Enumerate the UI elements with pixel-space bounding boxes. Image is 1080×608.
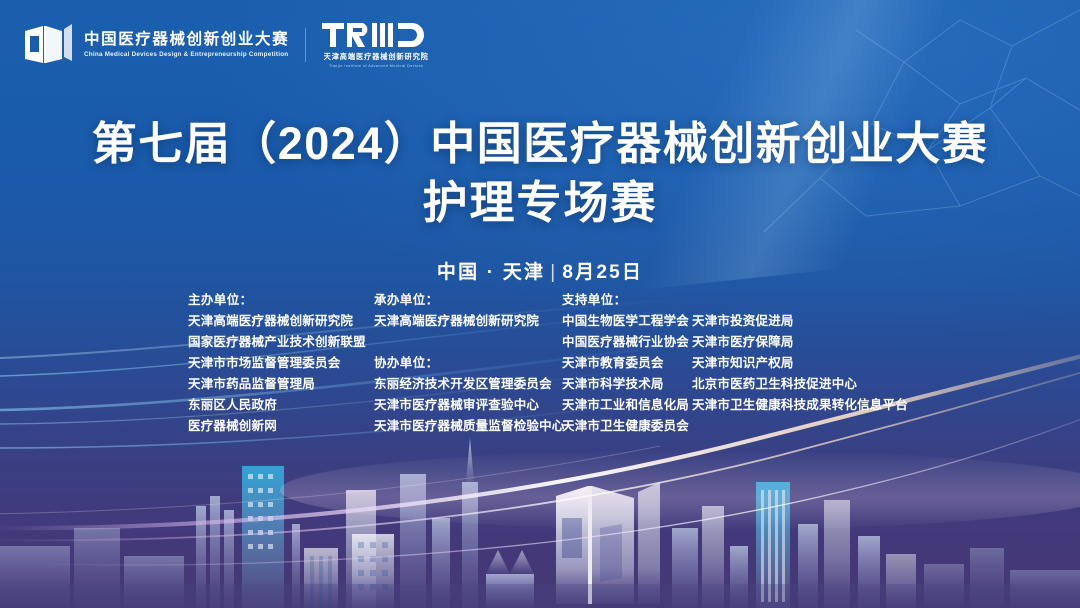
org-item: 天津市卫生健康委员会 <box>562 416 692 437</box>
institute-logo[interactable]: 天津高端医疗器械创新研究院 Tianjin Institute of Advan… <box>322 22 430 68</box>
header-logo-bar: 中国医疗器械创新创业大赛 China Medical Devices Desig… <box>22 22 430 68</box>
title-secondary: 护理专场赛 <box>0 175 1080 232</box>
org-item: 东丽区人民政府 <box>188 395 374 416</box>
institute-logo-en: Tianjin Institute of Advanced Medical De… <box>329 64 423 68</box>
org-heading-organizer: 承办单位： <box>374 290 562 311</box>
trmd-wordmark-icon <box>322 22 430 48</box>
org-item: 天津市科学技术局 <box>562 374 692 395</box>
org-item: 天津市医疗保障局 <box>692 332 902 353</box>
org-item: 医疗器械创新网 <box>188 416 374 437</box>
competition-logo-cn: 中国医疗器械创新创业大赛 <box>84 31 289 48</box>
event-date: 8月25日 <box>562 262 643 283</box>
competition-logo[interactable]: 中国医疗器械创新创业大赛 China Medical Devices Desig… <box>22 23 289 67</box>
event-location: 中国 · 天津 <box>437 262 545 283</box>
org-heading-supporters: 支持单位： <box>562 290 692 311</box>
org-column-spacer <box>692 290 902 311</box>
org-item: 天津市工业和信息化局 <box>562 395 692 416</box>
logo-divider <box>305 28 306 62</box>
org-item: 天津市教育委员会 <box>562 353 692 374</box>
poster-canvas: 中国医疗器械创新创业大赛 China Medical Devices Desig… <box>0 0 1080 608</box>
org-item: 国家医疗器械产业技术创新联盟 <box>188 332 374 353</box>
meta-separator: | <box>550 262 557 283</box>
org-item: 东丽经济技术开发区管理委员会 <box>374 374 562 395</box>
org-item: 天津市医疗器械质量监督检验中心 <box>374 416 562 437</box>
org-heading-host: 主办单位： <box>188 290 374 311</box>
competition-logo-en: China Medical Devices Design & Entrepren… <box>84 51 289 60</box>
org-item: 天津市药品监督管理局 <box>188 374 374 395</box>
title-block: 第七届（2024）中国医疗器械创新创业大赛 护理专场赛 中国 · 天津|8月25… <box>0 116 1080 284</box>
org-item: 天津市医疗器械审评查验中心 <box>374 395 562 416</box>
org-item: 天津市知识产权局 <box>692 353 902 374</box>
org-item: 天津高端医疗器械创新研究院 <box>374 311 562 332</box>
title-primary: 第七届（2024）中国医疗器械创新创业大赛 <box>0 116 1080 173</box>
org-item: 中国生物医学工程学会 <box>562 311 692 332</box>
org-item: 中国医疗器械行业协会 <box>562 332 692 353</box>
org-column-host: 主办单位： 天津高端医疗器械创新研究院 国家医疗器械产业技术创新联盟 天津市市场… <box>188 290 374 437</box>
org-column-gap <box>374 332 562 353</box>
event-meta: 中国 · 天津|8月25日 <box>0 257 1080 284</box>
open-door-icon <box>22 23 74 67</box>
org-item: 天津市卫生健康科技成果转化信息平台 <box>692 395 902 416</box>
organizations-block: 主办单位： 天津高端医疗器械创新研究院 国家医疗器械产业技术创新联盟 天津市市场… <box>188 290 902 437</box>
org-heading-coorganizer: 协办单位： <box>374 353 562 374</box>
institute-logo-cn: 天津高端医疗器械创新研究院 <box>324 52 429 62</box>
org-column-supporters-b: 天津市投资促进局 天津市医疗保障局 天津市知识产权局 北京市医药卫生科技促进中心… <box>692 290 902 416</box>
org-item: 天津高端医疗器械创新研究院 <box>188 311 374 332</box>
org-item: 天津市投资促进局 <box>692 311 902 332</box>
org-column-organizer: 承办单位： 天津高端医疗器械创新研究院 协办单位： 东丽经济技术开发区管理委员会… <box>374 290 562 437</box>
org-item: 北京市医药卫生科技促进中心 <box>692 374 902 395</box>
org-item: 天津市市场监督管理委员会 <box>188 353 374 374</box>
org-column-supporters-a: 支持单位： 中国生物医学工程学会 中国医疗器械行业协会 天津市教育委员会 天津市… <box>562 290 692 437</box>
